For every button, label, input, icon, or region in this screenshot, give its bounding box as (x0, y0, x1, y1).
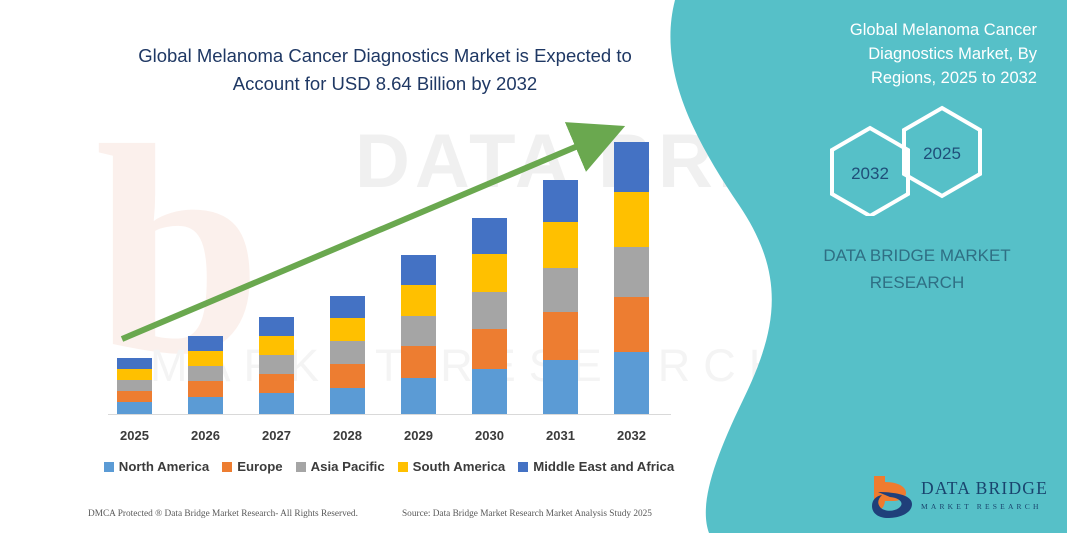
bar-segment-2025-middle-east-and-africa (117, 358, 152, 369)
bar-segment-2030-europe (472, 329, 507, 369)
panel-title: Global Melanoma Cancer Diagnostics Marke… (807, 18, 1037, 90)
bar-2027 (259, 317, 294, 414)
x-axis-line (108, 414, 671, 415)
footer-source-note: Source: Data Bridge Market Research Mark… (402, 509, 652, 519)
logo-line-2: MARKET RESEARCH (921, 502, 1048, 511)
bar-segment-2030-middle-east-and-africa (472, 218, 507, 254)
bar-segment-2029-south-america (401, 285, 436, 316)
bar-segment-2028-middle-east-and-africa (330, 296, 365, 318)
bar-segment-2028-north-america (330, 388, 365, 414)
x-axis-tick-2025: 2025 (105, 428, 165, 443)
bar-segment-2030-south-america (472, 254, 507, 292)
bar-segment-2026-north-america (188, 397, 223, 414)
bar-segment-2029-asia-pacific (401, 316, 436, 346)
legend-label: South America (413, 459, 506, 474)
panel-brand-text: DATA BRIDGE MARKET RESEARCH (807, 242, 1027, 296)
bar-segment-2027-europe (259, 374, 294, 393)
logo-line-1: DATA BRIDGE (921, 478, 1048, 499)
bar-segment-2027-south-america (259, 336, 294, 355)
bar-segment-2031-south-america (543, 222, 578, 268)
bar-segment-2031-middle-east-and-africa (543, 180, 578, 222)
bar-chart-plot-area: 20252026202720282029203020312032 (0, 0, 700, 470)
bar-segment-2026-europe (188, 381, 223, 397)
bar-segment-2026-middle-east-and-africa (188, 336, 223, 351)
bar-segment-2026-asia-pacific (188, 366, 223, 381)
bar-segment-2028-asia-pacific (330, 341, 365, 364)
x-axis-tick-2029: 2029 (389, 428, 449, 443)
legend-swatch-icon (222, 462, 232, 472)
bar-segment-2025-south-america (117, 369, 152, 380)
year-hexagon-badges: 2025 2032 (820, 104, 1010, 216)
hex-label-2032: 2032 (851, 164, 889, 183)
bar-2030 (472, 218, 507, 414)
footer-dmca-notice: DMCA Protected ® Data Bridge Market Rese… (88, 509, 358, 519)
chart-legend: North AmericaEuropeAsia PacificSouth Ame… (100, 459, 678, 474)
bar-segment-2028-europe (330, 364, 365, 388)
bar-segment-2030-asia-pacific (472, 292, 507, 329)
bar-segment-2027-asia-pacific (259, 355, 294, 374)
legend-label: North America (119, 459, 209, 474)
legend-item-asia-pacific[interactable]: Asia Pacific (296, 459, 385, 474)
legend-item-europe[interactable]: Europe (222, 459, 282, 474)
bar-segment-2031-europe (543, 312, 578, 360)
bar-segment-2027-middle-east-and-africa (259, 317, 294, 336)
bar-segment-2025-north-america (117, 402, 152, 414)
bar-segment-2027-north-america (259, 393, 294, 414)
bar-segment-2028-south-america (330, 318, 365, 341)
bar-segment-2032-north-america (614, 352, 649, 414)
bar-segment-2025-asia-pacific (117, 380, 152, 391)
legend-swatch-icon (518, 462, 528, 472)
legend-swatch-icon (296, 462, 306, 472)
x-axis-tick-2026: 2026 (176, 428, 236, 443)
bar-segment-2029-middle-east-and-africa (401, 255, 436, 285)
hex-label-2025: 2025 (923, 144, 961, 163)
bar-segment-2025-europe (117, 391, 152, 402)
x-axis-tick-2028: 2028 (318, 428, 378, 443)
bar-segment-2032-europe (614, 297, 649, 352)
bar-2026 (188, 336, 223, 414)
x-axis-tick-2031: 2031 (531, 428, 591, 443)
bar-segment-2031-north-america (543, 360, 578, 414)
legend-label: Europe (237, 459, 282, 474)
legend-label: Asia Pacific (311, 459, 385, 474)
bar-segment-2032-middle-east-and-africa (614, 142, 649, 192)
x-axis-tick-2030: 2030 (460, 428, 520, 443)
legend-item-south-america[interactable]: South America (398, 459, 506, 474)
logo-b-mark (868, 474, 918, 520)
bar-segment-2032-asia-pacific (614, 247, 649, 297)
bar-segment-2031-asia-pacific (543, 268, 578, 312)
bar-2025 (117, 358, 152, 414)
legend-swatch-icon (104, 462, 114, 472)
legend-item-north-america[interactable]: North America (104, 459, 209, 474)
bar-segment-2032-south-america (614, 192, 649, 247)
data-bridge-logo: DATA BRIDGE MARKET RESEARCH (868, 474, 1043, 522)
bar-2031 (543, 180, 578, 414)
bar-2032 (614, 142, 649, 414)
x-axis-tick-2027: 2027 (247, 428, 307, 443)
bar-segment-2029-europe (401, 346, 436, 378)
infographic-canvas: b DATA BRIDGE MARKET RESEARCH Global Mel… (0, 0, 1067, 533)
bar-2029 (401, 255, 436, 414)
bar-2028 (330, 296, 365, 414)
bar-segment-2029-north-america (401, 378, 436, 414)
bar-segment-2030-north-america (472, 369, 507, 414)
bar-segment-2026-south-america (188, 351, 223, 366)
legend-swatch-icon (398, 462, 408, 472)
logo-wordmark: DATA BRIDGE MARKET RESEARCH (921, 478, 1048, 511)
